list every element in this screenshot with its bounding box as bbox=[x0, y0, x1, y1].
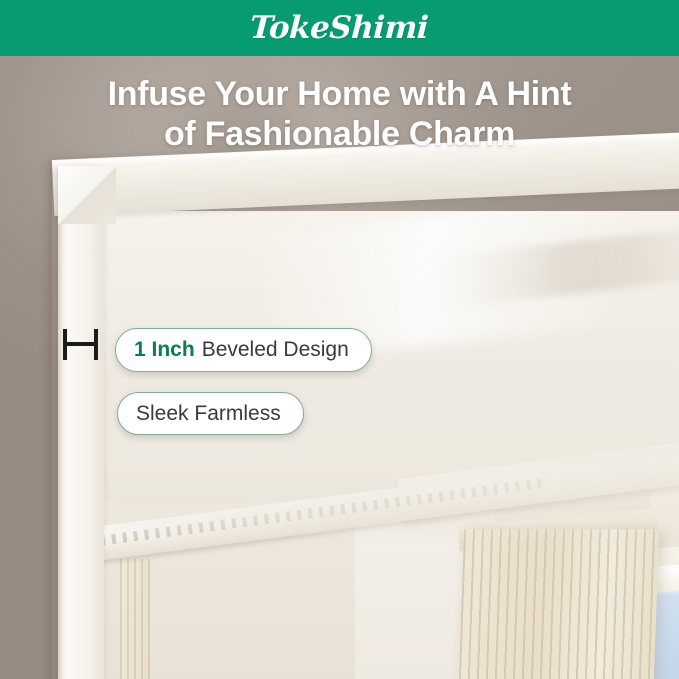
brand-logo: TokeShimi bbox=[249, 10, 429, 46]
product-lifestyle-banner: TokeShimi Infuse Your Home with A Hint o… bbox=[0, 0, 679, 679]
mirror-frame-mitre-corner bbox=[58, 166, 116, 224]
mirror-frame-left-edge bbox=[58, 168, 63, 679]
feature-pill-sleek-farmless: Sleek Farmless bbox=[117, 392, 304, 435]
headline-line-1: Infuse Your Home with A Hint bbox=[108, 75, 572, 113]
dimension-width-icon bbox=[61, 328, 101, 361]
brand-header-bar: TokeShimi bbox=[0, 0, 679, 56]
reflected-curtain-left bbox=[120, 559, 150, 679]
feature-pill-beveled-design: 1 Inch Beveled Design bbox=[115, 328, 372, 372]
feature-pill-label: Beveled Design bbox=[202, 338, 349, 362]
reflected-curtain bbox=[456, 529, 659, 679]
mirror-glass-reflection bbox=[100, 211, 679, 679]
feature-pill-accent: 1 Inch bbox=[134, 338, 195, 362]
feature-pill-label: Sleek Farmless bbox=[136, 402, 281, 426]
mirror-frame-left-stile bbox=[58, 168, 104, 679]
page-title: Infuse Your Home with A Hint of Fashiona… bbox=[0, 74, 679, 154]
headline-line-2: of Fashionable Charm bbox=[0, 114, 679, 154]
